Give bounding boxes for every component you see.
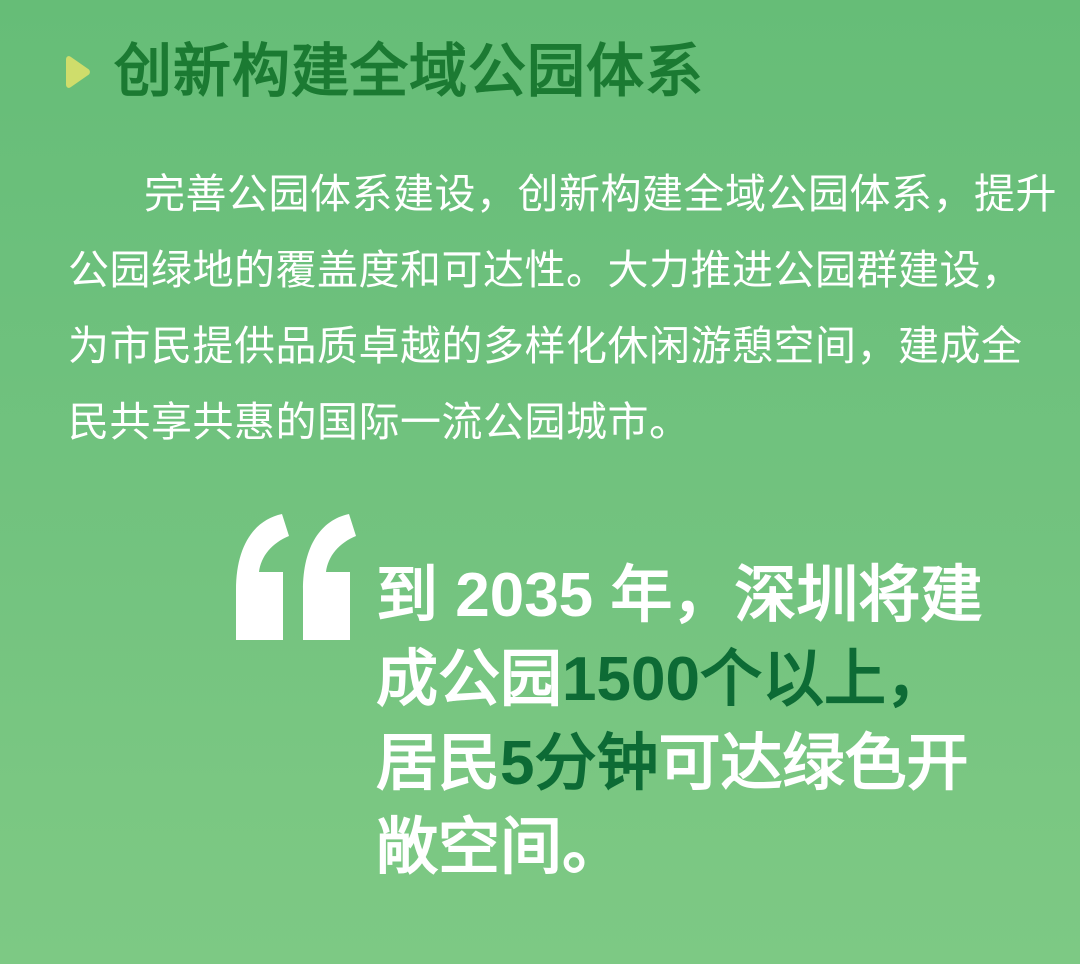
quote-text: 到 2035 年，深圳将建 成公园1500个以上， 居民5分钟可达绿色开 敞空间… — [376, 554, 1026, 890]
body-line: 公园绿地的覆盖度和可达性。大力推进公园群建设， — [68, 232, 1012, 308]
triangle-right-icon — [62, 55, 92, 89]
body-paragraph: 完善公园体系建设，创新构建全域公园体系，提升 公园绿地的覆盖度和可达性。大力推进… — [68, 156, 1012, 460]
quote-highlight: 1500个以上， — [562, 645, 948, 714]
body-line: 完善公园体系建设，创新构建全域公园体系，提升 — [68, 156, 1012, 232]
page-title: 创新构建全域公园体系 — [114, 43, 704, 101]
quote-plain: 居民 — [376, 729, 500, 798]
quote-highlight: 5分钟 — [500, 729, 658, 798]
poster-canvas: 创新构建全域公园体系 完善公园体系建设，创新构建全域公园体系，提升 公园绿地的覆… — [0, 0, 1080, 964]
quote-line: 敞空间。 — [376, 806, 1026, 890]
quote-plain: 可达绿色开 — [659, 729, 969, 798]
quote-plain: 成公园 — [376, 645, 562, 714]
quote-plain: 到 2035 年，深圳将建 — [376, 561, 982, 630]
quote-line: 到 2035 年，深圳将建 — [376, 554, 1026, 638]
body-line: 民共享共惠的国际一流公园城市。 — [68, 384, 1012, 460]
quote-line: 居民5分钟可达绿色开 — [376, 722, 1026, 806]
open-quote-icon — [232, 512, 356, 644]
body-line: 为市民提供品质卓越的多样化休闲游憩空间，建成全 — [68, 308, 1012, 384]
quote-plain: 敞空间。 — [376, 813, 624, 882]
section-heading: 创新构建全域公园体系 — [62, 36, 704, 108]
quote-line: 成公园1500个以上， — [376, 638, 1026, 722]
